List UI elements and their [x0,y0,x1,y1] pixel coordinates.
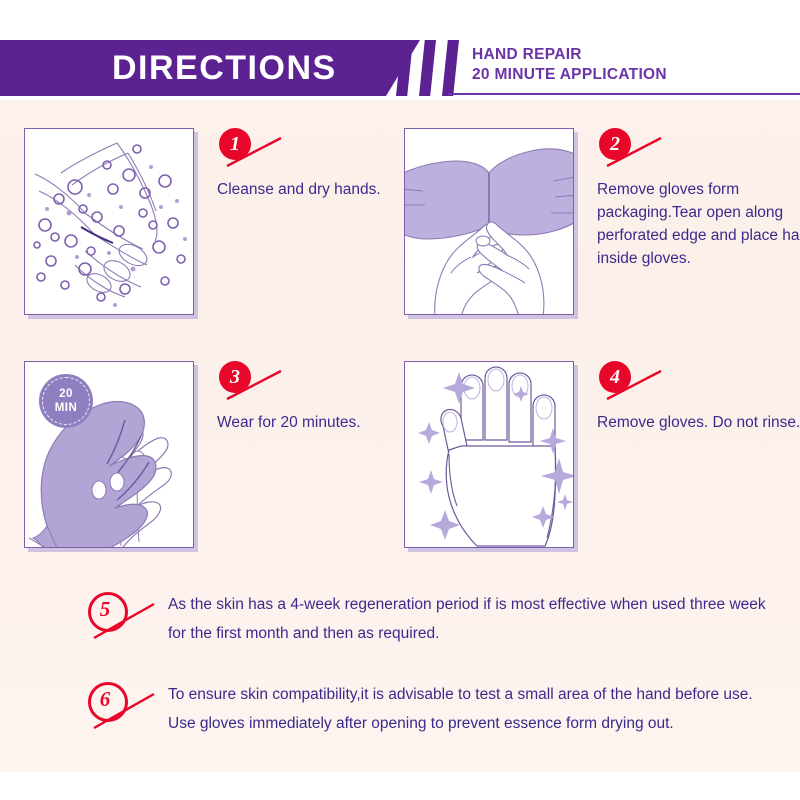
step-1-illustration-panel [24,128,194,315]
note-6-number-badge: 6 [86,682,156,732]
hands-opening-glove-packaging-icon [405,129,573,314]
badge-slash-icon [225,365,283,401]
step-2-illustration-panel [404,128,574,315]
note-5: 5 As the skin has a 4-week regeneration … [0,588,800,672]
header-underline [448,93,800,95]
slash-decoration-2 [419,40,436,96]
header-subtitle: HAND REPAIR 20 MINUTE APPLICATION [472,45,667,85]
step-2-text: Remove gloves form packaging.Tear open a… [597,178,800,270]
timer-badge: 20 MIN [39,374,93,428]
badge-slash-icon [92,596,156,640]
note-6-text: To ensure skin compatibility,it is advis… [168,680,780,738]
step-3-illustration-panel: 20 MIN [24,361,194,548]
note-5-number-badge: 5 [86,592,156,642]
slash-decoration-3 [442,40,459,96]
step-3-number-badge: 3 [217,361,279,405]
hands-washing-with-bubbles-icon [25,129,193,314]
badge-slash-icon [92,686,156,730]
badge-slash-icon [225,132,283,168]
note-6: 6 To ensure skin compatibility,it is adv… [0,678,800,762]
step-3-text: Wear for 20 minutes. [217,411,432,434]
badge-slash-icon [605,132,663,168]
page-title: DIRECTIONS [112,49,337,87]
step-1-body: 1 Cleanse and dry hands. [217,128,432,201]
step-2-number-badge: 2 [597,128,659,172]
step-4-body: 4 Remove gloves. Do not rinse. [597,361,800,434]
step-2-body: 2 Remove gloves form packaging.Tear open… [597,128,800,270]
note-5-text: As the skin has a 4-week regeneration pe… [168,590,780,648]
step-4-number-badge: 4 [597,361,659,405]
step-4-text: Remove gloves. Do not rinse. [597,411,800,434]
header: DIRECTIONS HAND REPAIR 20 MINUTE APPLICA… [0,40,800,96]
header-subtitle-line-2: 20 MINUTE APPLICATION [472,65,667,85]
clean-sparkling-hand-icon [405,362,573,547]
badge-slash-icon [605,365,663,401]
step-4-illustration-panel [404,361,574,548]
timer-badge-unit: MIN [55,401,78,415]
step-3-body: 3 Wear for 20 minutes. [217,361,432,434]
directions-infographic: DIRECTIONS HAND REPAIR 20 MINUTE APPLICA… [0,0,800,800]
notes-section: 5 As the skin has a 4-week regeneration … [0,588,800,762]
header-subtitle-line-1: HAND REPAIR [472,45,667,65]
timer-badge-value: 20 [59,387,73,401]
step-1-text: Cleanse and dry hands. [217,178,432,201]
step-1-number-badge: 1 [217,128,279,172]
